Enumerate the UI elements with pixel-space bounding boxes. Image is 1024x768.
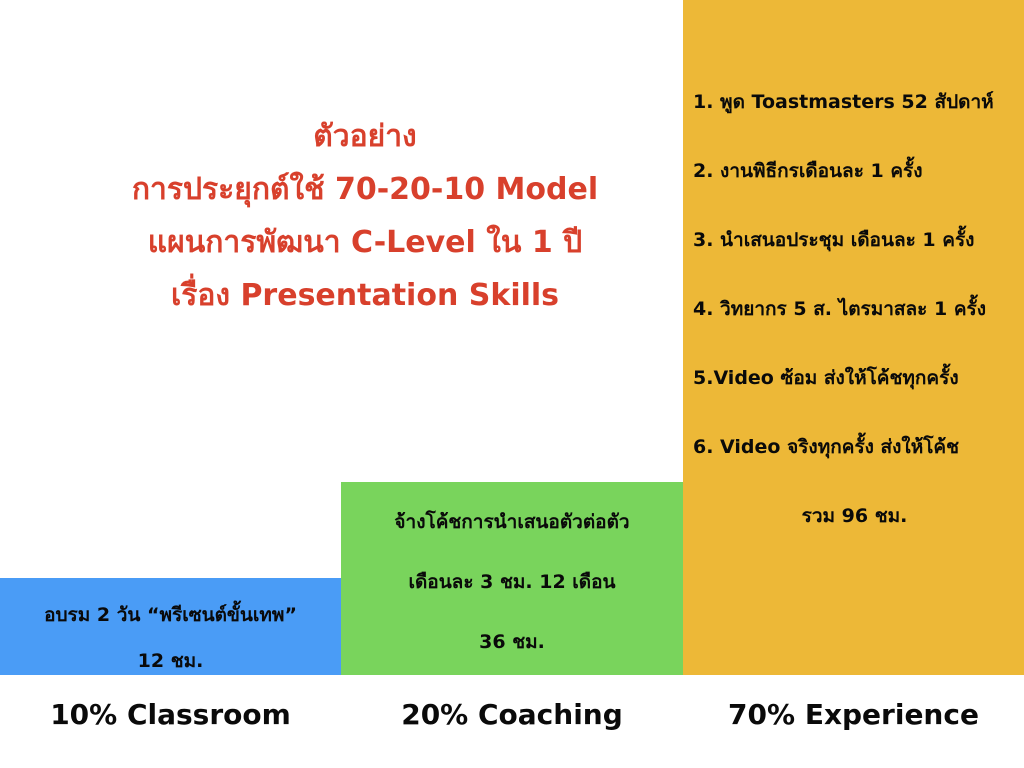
bar-classroom-line-1: อบรม 2 วัน “พรีเซนต์ขั้นเทพ”	[0, 592, 341, 638]
bar-coaching: จ้างโค้ชการนำเสนอตัวต่อตัว เดือนละ 3 ชม.…	[341, 482, 683, 675]
axis-label-coaching: 20% Coaching	[341, 695, 683, 735]
list-item: 6. Video จริงทุกครั้ง ส่งให้โค้ช	[693, 435, 1016, 459]
bar-classroom-text: อบรม 2 วัน “พรีเซนต์ขั้นเทพ” 12 ชม.	[0, 592, 341, 684]
bar-experience-total: รวม 96 ชม.	[693, 504, 1016, 528]
bar-coaching-line-3: 36 ชม.	[341, 612, 683, 672]
category-axis-labels: 10% Classroom 20% Coaching 70% Experienc…	[0, 695, 1024, 755]
bar-coaching-text: จ้างโค้ชการนำเสนอตัวต่อตัว เดือนละ 3 ชม.…	[341, 492, 683, 672]
list-item: 4. วิทยากร 5 ส. ไตรมาสละ 1 ครั้ง	[693, 297, 1016, 321]
bar-coaching-line-1: จ้างโค้ชการนำเสนอตัวต่อตัว	[341, 492, 683, 552]
title-line-2: การประยุกต์ใช้ 70-20-10 Model	[60, 163, 670, 216]
title-line-4: เรื่อง Presentation Skills	[60, 269, 670, 322]
bar-experience-activity-list: 1. พูด Toastmasters 52 สัปดาห์ 2. งานพิธ…	[693, 90, 1016, 528]
list-item: 2. งานพิธีกรเดือนละ 1 ครั้ง	[693, 159, 1016, 183]
slide-canvas: ตัวอย่าง การประยุกต์ใช้ 70-20-10 Model แ…	[0, 0, 1024, 768]
list-item: 5.Video ซ้อม ส่งให้โค้ชทุกครั้ง	[693, 366, 1016, 390]
title-line-3: แผนการพัฒนา C-Level ใน 1 ปี	[60, 216, 670, 269]
bar-experience: 1. พูด Toastmasters 52 สัปดาห์ 2. งานพิธ…	[683, 0, 1024, 675]
page-title: ตัวอย่าง การประยุกต์ใช้ 70-20-10 Model แ…	[60, 110, 670, 322]
list-item: 1. พูด Toastmasters 52 สัปดาห์	[693, 90, 1016, 114]
title-line-1: ตัวอย่าง	[60, 110, 670, 163]
bar-classroom: อบรม 2 วัน “พรีเซนต์ขั้นเทพ” 12 ชม.	[0, 578, 341, 675]
axis-label-experience: 70% Experience	[683, 695, 1024, 735]
bar-classroom-line-2: 12 ชม.	[0, 638, 341, 684]
bar-coaching-line-2: เดือนละ 3 ชม. 12 เดือน	[341, 552, 683, 612]
axis-label-classroom: 10% Classroom	[0, 695, 341, 735]
list-item: 3. นำเสนอประชุม เดือนละ 1 ครั้ง	[693, 228, 1016, 252]
